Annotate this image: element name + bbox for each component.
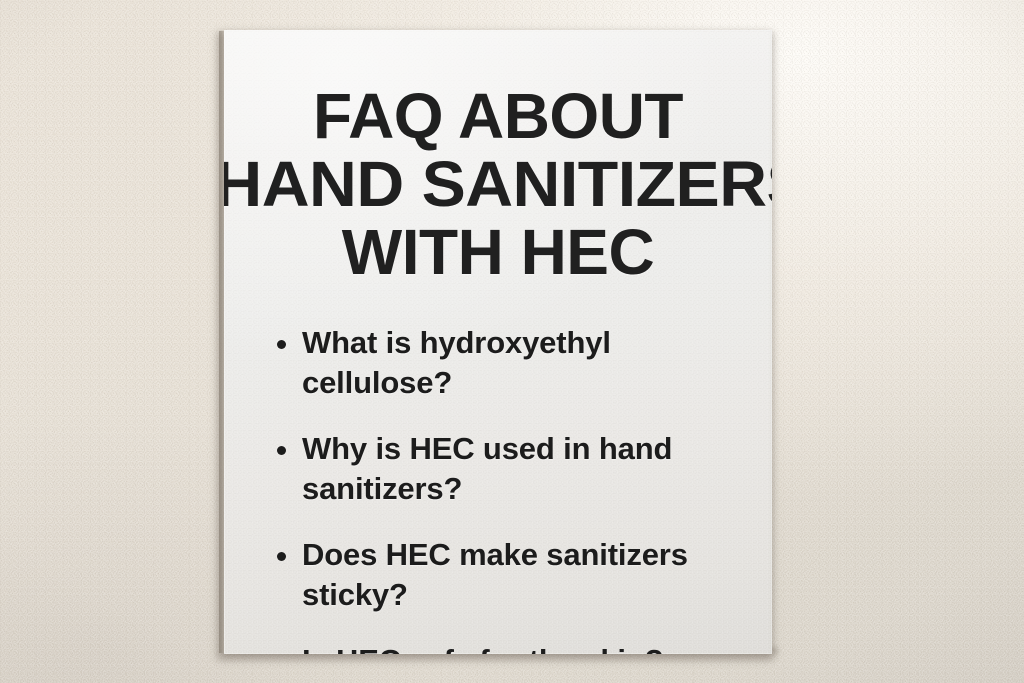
faq-list-item: Does HEC make sanitizers sticky? [254,535,754,615]
bullet-icon [277,446,286,455]
poster-scene: FAQ ABOUT HAND SANITIZERS WITH HEC What … [0,0,1024,683]
sign-panel: FAQ ABOUT HAND SANITIZERS WITH HEC What … [224,30,772,654]
faq-question-text: Is HEC safe for the skin? [302,643,663,654]
title-line-1: FAQ ABOUT [224,82,772,150]
title-line-2: HAND SANITIZERS [224,150,772,218]
faq-question-text: Does HEC make sanitizers sticky? [302,537,688,612]
faq-list-item: Is HEC safe for the skin? [254,641,754,654]
faq-question-text: What is hydroxyethyl cellulose? [302,325,611,400]
faq-question-list: What is hydroxyethyl cellulose? Why is H… [254,323,754,654]
poster-title: FAQ ABOUT HAND SANITIZERS WITH HEC [224,82,772,286]
title-line-3: WITH HEC [224,218,772,286]
faq-question-text: Why is HEC used in hand sanitizers? [302,431,672,506]
bullet-icon [277,340,286,349]
faq-list-item: What is hydroxyethyl cellulose? [254,323,754,403]
poster-content: FAQ ABOUT HAND SANITIZERS WITH HEC What … [224,30,772,654]
faq-list-item: Why is HEC used in hand sanitizers? [254,429,754,509]
bullet-icon [277,552,286,561]
sign-panel-wrapper: FAQ ABOUT HAND SANITIZERS WITH HEC What … [224,30,772,654]
